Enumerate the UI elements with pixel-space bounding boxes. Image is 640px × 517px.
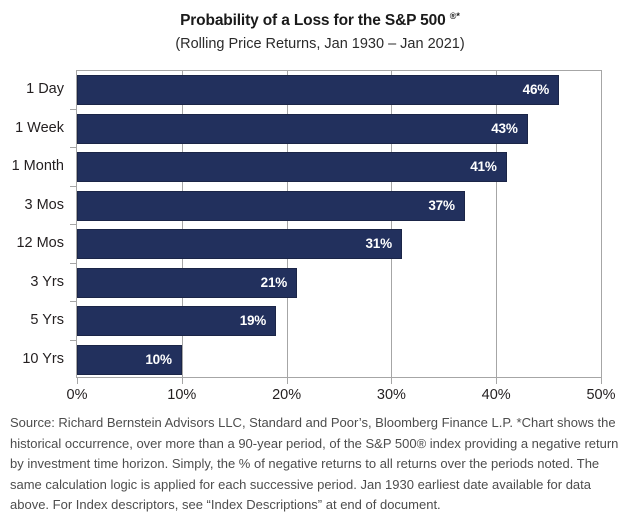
bar-1-day[interactable] — [77, 75, 559, 105]
x-axis-tick — [77, 378, 78, 384]
chart-subtitle: (Rolling Price Returns, Jan 1930 – Jan 2… — [0, 34, 640, 54]
x-axis-label: 20% — [272, 386, 301, 404]
x-axis-label: 30% — [377, 386, 406, 404]
x-axis-label: 0% — [67, 386, 88, 404]
bar-row: 21% — [77, 268, 601, 298]
x-axis-tick — [182, 378, 183, 384]
bar-row: 46% — [77, 75, 601, 105]
x-axis-tick — [287, 378, 288, 384]
bar-value-label: 43% — [480, 114, 518, 144]
bar-value-label: 37% — [417, 191, 455, 221]
x-axis-label: 10% — [167, 386, 196, 404]
chart-title-superscript: ®* — [450, 11, 460, 21]
bar-row: 37% — [77, 191, 601, 221]
bar-row: 41% — [77, 152, 601, 182]
y-axis-label: 1 Month — [12, 157, 64, 175]
y-axis-label: 1 Day — [26, 80, 64, 98]
y-axis-label: 3 Yrs — [30, 273, 64, 291]
bar-row: 19% — [77, 306, 601, 336]
x-axis-label: 40% — [482, 386, 511, 404]
y-axis-label: 12 Mos — [16, 234, 64, 252]
y-axis-label: 3 Mos — [25, 196, 65, 214]
bar-1-week[interactable] — [77, 114, 528, 144]
y-axis-label: 10 Yrs — [22, 350, 64, 368]
y-axis-label: 5 Yrs — [30, 311, 64, 329]
x-axis-tick — [391, 378, 392, 384]
bar-value-label: 31% — [354, 229, 392, 259]
chart-page: Probability of a Loss for the S&P 500 ®*… — [0, 0, 640, 517]
bar-value-label: 41% — [459, 152, 497, 182]
chart-title-text: Probability of a Loss for the S&P 500 — [180, 12, 450, 29]
bar-value-label: 19% — [228, 306, 266, 336]
chart-area: 1 Day1 Week1 Month3 Mos12 Mos3 Yrs5 Yrs1… — [0, 66, 640, 396]
x-axis-labels: 0%10%20%30%40%50% — [0, 386, 640, 406]
bar-row: 43% — [77, 114, 601, 144]
plot-frame: 46%43%41%37%31%21%19%10% — [76, 70, 602, 378]
chart-title: Probability of a Loss for the S&P 500 ®* — [0, 6, 640, 31]
bar-value-label: 21% — [249, 268, 287, 298]
bar-value-label: 46% — [511, 75, 549, 105]
bar-3-mos[interactable] — [77, 191, 465, 221]
bar-value-label: 10% — [134, 345, 172, 375]
title-block: Probability of a Loss for the S&P 500 ®*… — [0, 6, 640, 54]
bar-row: 10% — [77, 345, 601, 375]
y-axis-label: 1 Week — [15, 119, 64, 137]
x-axis-tick — [496, 378, 497, 384]
x-axis-tick — [601, 378, 602, 384]
y-axis-labels: 1 Day1 Week1 Month3 Mos12 Mos3 Yrs5 Yrs1… — [0, 70, 70, 378]
footnote: Source: Richard Bernstein Advisors LLC, … — [10, 413, 628, 516]
x-axis-label: 50% — [586, 386, 615, 404]
bar-row: 31% — [77, 229, 601, 259]
bar-1-month[interactable] — [77, 152, 507, 182]
